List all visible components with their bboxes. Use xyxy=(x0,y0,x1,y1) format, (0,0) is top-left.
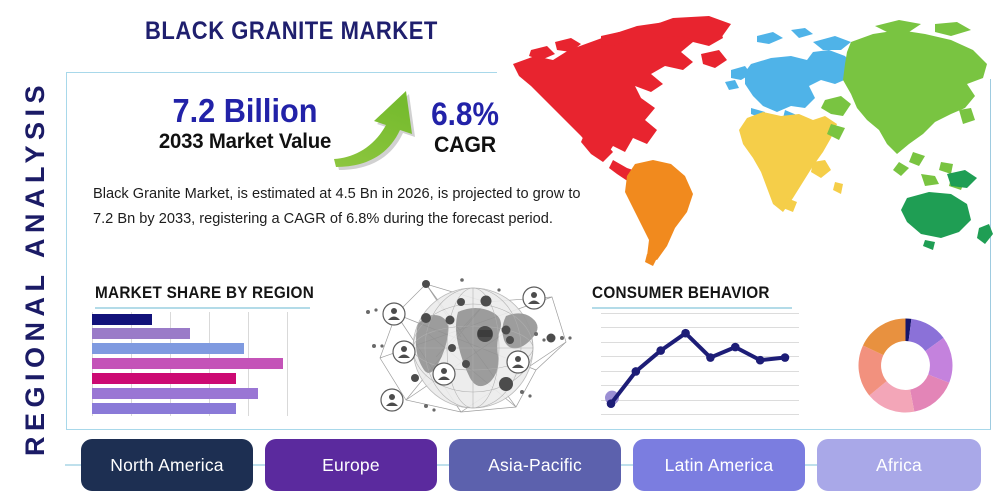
region-connector xyxy=(437,464,449,466)
line-chart-marker xyxy=(632,367,641,376)
map-region-oceania xyxy=(901,170,993,250)
map-region-north-america xyxy=(513,16,731,194)
bar xyxy=(92,314,152,325)
region-connector xyxy=(253,464,265,466)
donut-chart xyxy=(857,317,954,414)
region-connector xyxy=(805,464,817,466)
line-chart-marker xyxy=(607,399,616,408)
bar-row xyxy=(92,328,190,339)
bar-row xyxy=(92,343,244,354)
section-rule xyxy=(95,307,310,309)
line-chart-marker xyxy=(731,343,740,352)
region-button-africa[interactable]: Africa xyxy=(817,439,981,491)
infographic-root: REGIONAL ANALYSIS BLACK GRANITE MARKET 7… xyxy=(0,0,1000,500)
world-map-icon xyxy=(495,12,995,274)
region-button-latin-america[interactable]: Latin America xyxy=(633,439,805,491)
bar-row xyxy=(92,314,152,325)
section-header-consumer-behavior-label: CONSUMER BEHAVIOR xyxy=(592,283,772,303)
kpi-block: 7.2 Billion 2033 Market Value 6.8% CAGR xyxy=(95,93,515,168)
bar xyxy=(92,343,244,354)
kpi-market-value-label: 2033 Market Value xyxy=(138,129,351,155)
kpi-market-value: 7.2 Billion 2033 Market Value xyxy=(135,93,355,155)
gridline xyxy=(287,312,288,416)
bar-chart-bars xyxy=(92,312,287,416)
bar xyxy=(92,358,283,369)
line-chart-marker xyxy=(781,353,790,362)
line-chart-series xyxy=(601,313,799,416)
line-chart-marker xyxy=(756,356,765,365)
section-header-market-share-label: MARKET SHARE BY REGION xyxy=(95,283,289,303)
section-header-consumer-behavior: CONSUMER BEHAVIOR xyxy=(592,283,792,309)
region-connector xyxy=(621,464,633,466)
bar xyxy=(92,403,236,414)
region-connector xyxy=(65,464,81,466)
consumer-behavior-line-chart xyxy=(601,313,799,416)
line-chart-marker xyxy=(681,329,690,338)
map-region-south-america xyxy=(625,160,693,266)
line-chart-marker xyxy=(706,353,715,362)
bar xyxy=(92,373,236,384)
globe-network-people-icon xyxy=(366,272,581,422)
map-region-africa xyxy=(739,112,843,212)
section-header-market-share: MARKET SHARE BY REGION xyxy=(95,283,310,309)
bar-row xyxy=(92,358,283,369)
line-chart-marker xyxy=(656,346,665,355)
bar-row xyxy=(92,388,258,399)
bar xyxy=(92,388,258,399)
region-button-asia-pacific[interactable]: Asia-Pacific xyxy=(449,439,621,491)
page-title: BLACK GRANITE MARKET xyxy=(145,17,438,46)
bar-row xyxy=(92,373,236,384)
market-share-bar-chart xyxy=(92,312,287,416)
region-button-group[interactable]: North AmericaEuropeAsia-PacificLatin Ame… xyxy=(81,439,981,491)
bar xyxy=(92,328,190,339)
section-rule xyxy=(592,307,792,309)
region-button-north-america[interactable]: North America xyxy=(81,439,253,491)
side-label: REGIONAL ANALYSIS xyxy=(12,58,58,478)
region-button-europe[interactable]: Europe xyxy=(265,439,437,491)
donut-chart-svg xyxy=(857,317,954,414)
kpi-market-value-number: 7.2 Billion xyxy=(143,93,348,129)
bar-row xyxy=(92,403,236,414)
